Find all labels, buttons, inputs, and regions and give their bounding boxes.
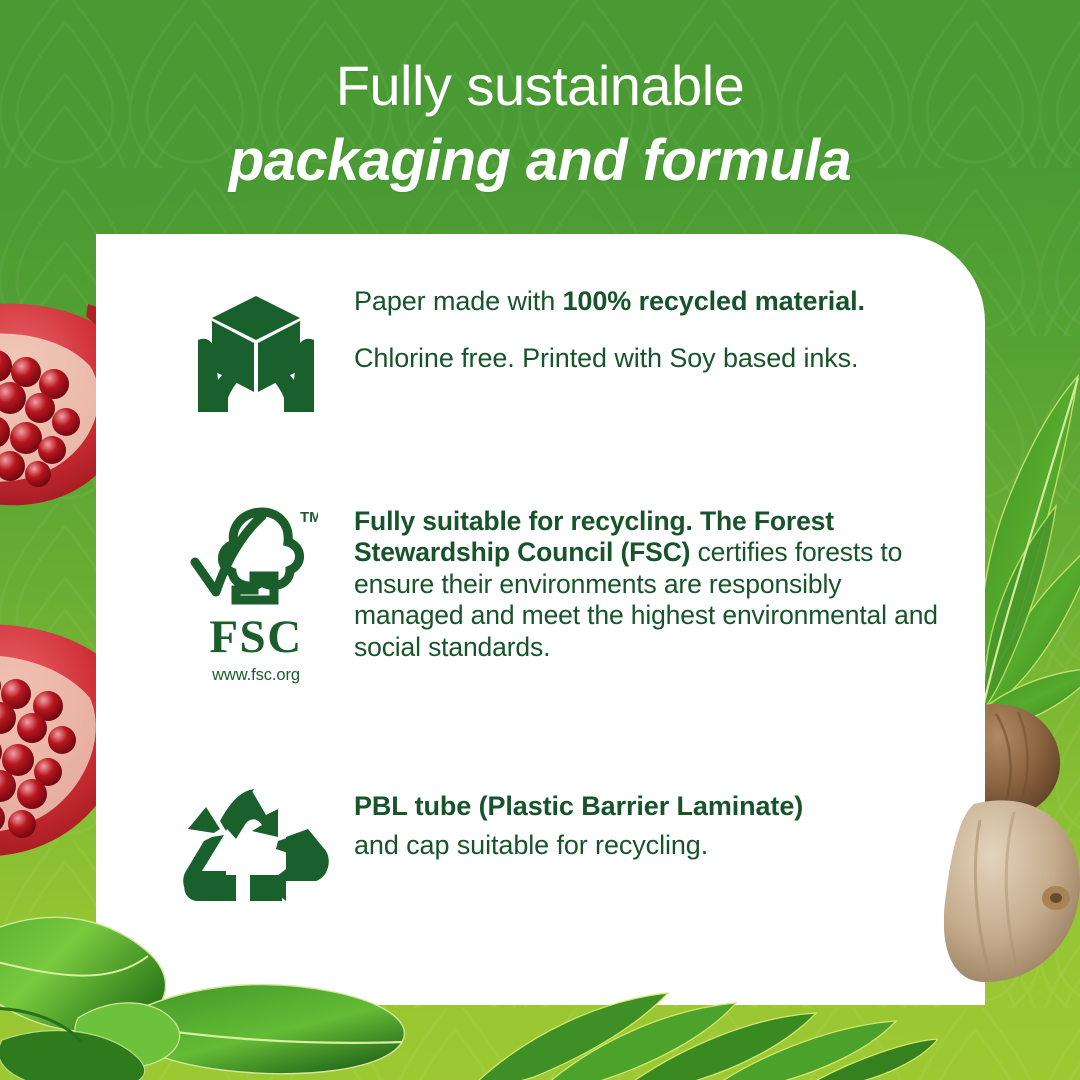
paper-line-1-bold: 100% recycled material. <box>563 286 865 316</box>
fsc-url-text: www.fsc.org <box>190 666 322 685</box>
infographic-canvas: Paper made with 100% recycled material. … <box>0 0 1080 1080</box>
feature-text-paper: Paper made with 100% recycled material. … <box>354 284 958 412</box>
hands-holding-box-icon <box>194 288 318 412</box>
feature-text-fsc: Fully suitable for recycling. The Forest… <box>354 506 958 685</box>
fsc-trademark-text: TM <box>300 509 318 526</box>
recycling-line-2-plain: and cap suitable for recycling. <box>354 830 708 860</box>
dried-fruit-bottom-right <box>944 790 1080 990</box>
page-title: Fully sustainable packaging and formula <box>0 58 1080 190</box>
recycling-symbol-icon <box>182 789 330 903</box>
fsc-paragraph: Fully suitable for recycling. The Forest… <box>354 506 954 663</box>
neem-leaves-bottom-center <box>468 985 938 1080</box>
feature-row-recycling: PBL tube (Plastic Barrier Laminate) and … <box>158 789 958 903</box>
paper-line-1: Paper made with 100% recycled material. <box>354 284 958 319</box>
feature-row-fsc: TM FSC www.fsc.org Fully suitable for re… <box>158 506 958 685</box>
recycling-line-2: and cap suitable for recycling. <box>354 828 958 863</box>
title-line-1: Fully sustainable <box>0 58 1080 114</box>
feature-icon-recycling <box>158 789 354 903</box>
paper-line-2: Chlorine free. Printed with Soy based in… <box>354 341 958 376</box>
fsc-wordmark: FSC <box>190 614 322 661</box>
recycling-line-1-bold: PBL tube (Plastic Barrier Laminate) <box>354 791 803 821</box>
features-card: Paper made with 100% recycled material. … <box>96 234 985 1005</box>
mint-leaves-bottom-left <box>0 900 462 1080</box>
recycling-line-1: PBL tube (Plastic Barrier Laminate) <box>354 789 958 824</box>
feature-icon-paper <box>158 284 354 412</box>
feature-icon-fsc: TM FSC www.fsc.org <box>158 506 354 685</box>
feature-text-recycling: PBL tube (Plastic Barrier Laminate) and … <box>354 789 958 903</box>
title-line-2: packaging and formula <box>0 132 1080 190</box>
fsc-logo-icon: TM <box>190 506 318 612</box>
feature-row-paper: Paper made with 100% recycled material. … <box>158 284 958 412</box>
features-list: Paper made with 100% recycled material. … <box>96 234 985 1005</box>
fsc-logo-block: TM FSC www.fsc.org <box>190 506 322 685</box>
paper-line-2-plain: Chlorine free. Printed with Soy based in… <box>354 343 858 373</box>
paper-line-1-plain: Paper made with <box>354 286 563 316</box>
